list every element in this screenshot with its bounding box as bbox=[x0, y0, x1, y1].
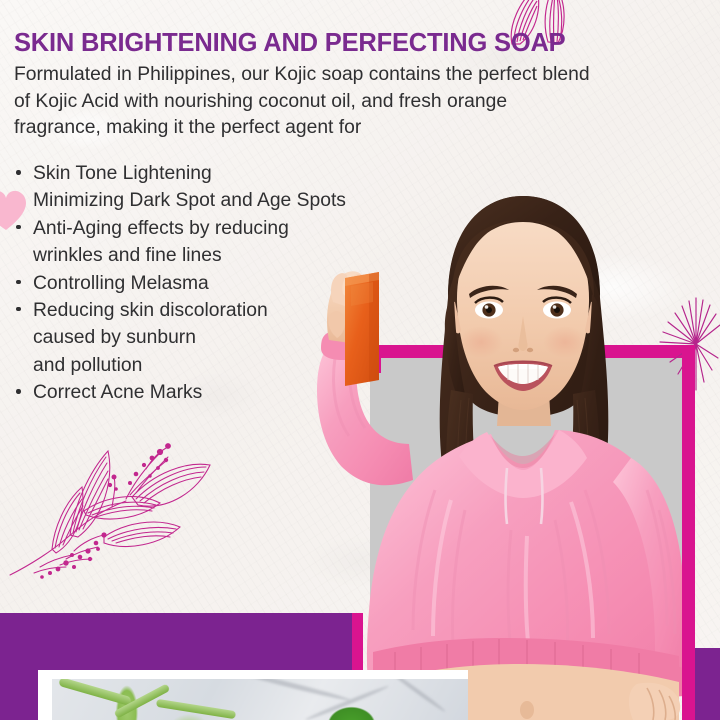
bullet-dot-icon bbox=[16, 389, 21, 394]
bullet-dot-icon bbox=[16, 170, 21, 175]
list-item: Skin Tone Lightening bbox=[14, 160, 414, 187]
botanical-sprig-bottom-left-icon bbox=[8, 425, 238, 605]
intro-line: Formulated in Philippines, our Kojic soa… bbox=[14, 62, 714, 89]
bottom-photo-image bbox=[52, 679, 468, 720]
bottom-purple-band-right bbox=[695, 648, 720, 720]
headline: SKIN BRIGHTENING AND PERFECTING SOAP bbox=[14, 30, 654, 58]
intro-line: of Kojic Acid with nourishing coconut oi… bbox=[14, 89, 714, 116]
bullet-dot-icon bbox=[16, 280, 21, 285]
soap-bar bbox=[345, 272, 379, 386]
poster-canvas: SKIN BRIGHTENING AND PERFECTING SOAP For… bbox=[0, 0, 720, 720]
bottom-photo-card bbox=[38, 670, 468, 720]
list-item-line: Skin Tone Lightening bbox=[33, 160, 414, 187]
heart-petal-left-icon bbox=[0, 188, 26, 232]
intro-line: fragrance, making it the perfect agent f… bbox=[14, 115, 714, 142]
magenta-frame-right-bar bbox=[682, 345, 695, 720]
intro-paragraph: Formulated in Philippines, our Kojic soa… bbox=[14, 62, 714, 142]
bullet-dot-icon bbox=[16, 307, 21, 312]
